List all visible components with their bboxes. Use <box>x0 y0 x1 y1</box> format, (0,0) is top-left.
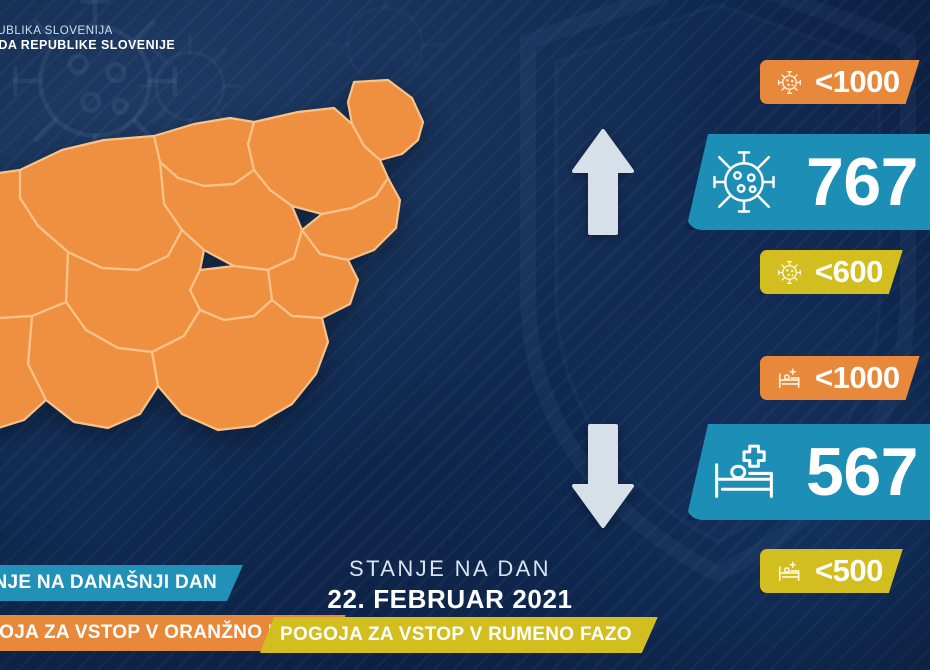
virus-icon <box>776 69 803 96</box>
hospitalized-value-panel[interactable]: 567 <box>686 424 930 520</box>
hospital-bed-icon <box>708 436 780 508</box>
cases-upper-threshold-badge[interactable]: <1000 <box>760 60 920 104</box>
cases-value: 767 <box>806 148 918 216</box>
slovenia-map-svg <box>0 74 462 514</box>
infographic-canvas: REPUBLIKA SLOVENIJA VLADA REPUBLIKE SLOV… <box>0 0 930 670</box>
virus-icon <box>708 146 780 218</box>
hospitalized-lower-threshold-value: <500 <box>815 553 883 589</box>
slovenia-map[interactable] <box>0 74 462 514</box>
cases-lower-threshold-value: <600 <box>815 254 883 290</box>
cases-upper-threshold-value: <1000 <box>815 64 900 100</box>
header-line-2: VLADA REPUBLIKE SLOVENIJE <box>0 38 175 54</box>
hospitalized-upper-threshold-badge[interactable]: <1000 <box>760 356 920 400</box>
date-block: STANJE NA DAN 22. FEBRUAR 2021 <box>292 556 608 615</box>
date-value: 22. FEBRUAR 2021 <box>292 584 608 615</box>
government-header: REPUBLIKA SLOVENIJA VLADA REPUBLIKE SLOV… <box>0 24 175 54</box>
arrow-down-icon <box>572 424 634 528</box>
virus-icon <box>776 259 803 286</box>
header-line-1: REPUBLIKA SLOVENIJA <box>0 24 175 38</box>
cases-value-panel[interactable]: 767 <box>686 134 930 230</box>
cases-lower-threshold-badge[interactable]: <600 <box>760 250 903 294</box>
legend-today-banner[interactable]: STANJE NA DANAŠNJI DAN <box>0 565 243 601</box>
legend-yellow-phase-banner[interactable]: POGOJA ZA VSTOP V RUMENO FAZO <box>260 617 658 653</box>
arrow-up-icon <box>572 129 634 237</box>
hospital-bed-icon <box>776 365 803 392</box>
hospitalized-value: 567 <box>806 438 918 506</box>
hospitalized-lower-threshold-badge[interactable]: <500 <box>760 549 903 593</box>
hospital-bed-icon <box>776 558 803 585</box>
date-label: STANJE NA DAN <box>292 556 608 582</box>
hospitalized-upper-threshold-value: <1000 <box>815 360 900 396</box>
